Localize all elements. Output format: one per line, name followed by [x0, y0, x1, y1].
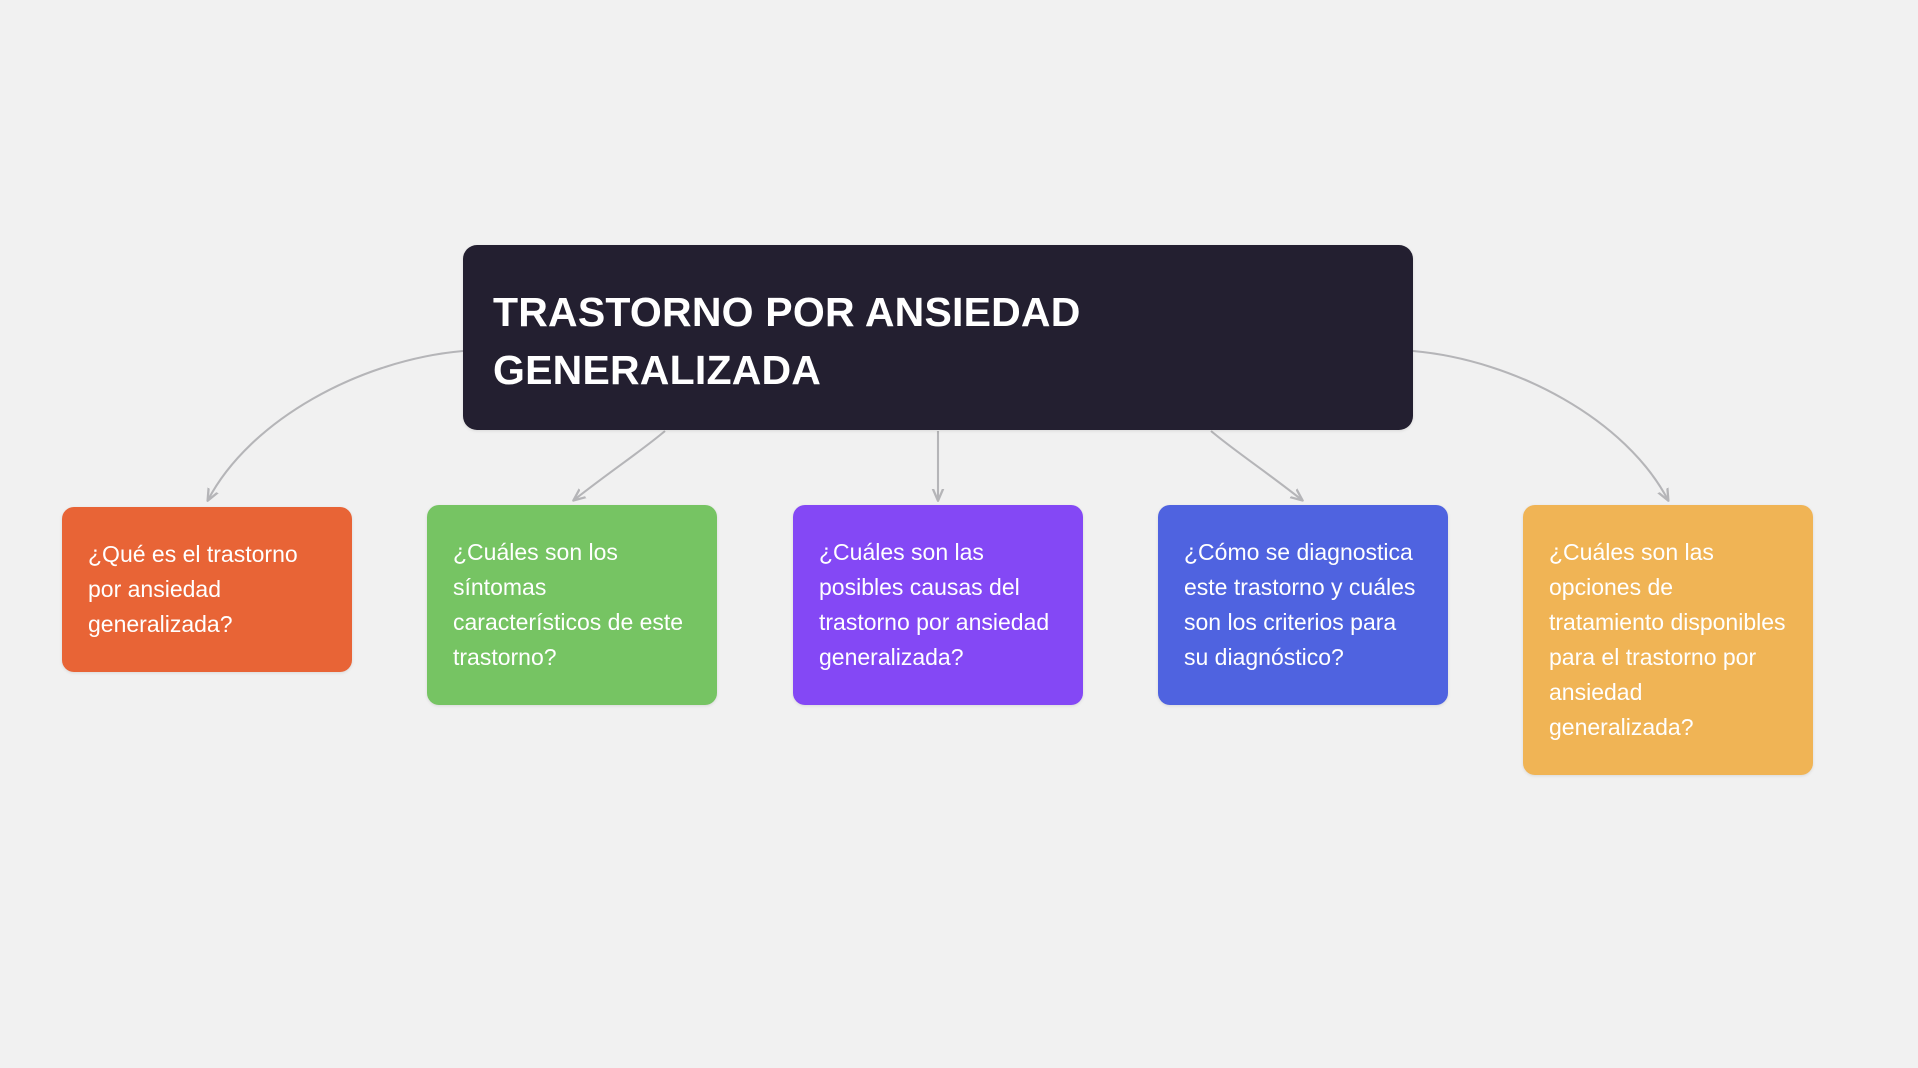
- child-label-diagnostico: ¿Cómo se diagnostica este trastorno y cu…: [1184, 535, 1422, 675]
- mindmap-canvas: TRASTORNO POR ANSIEDAD GENERALIZADA ¿Qué…: [0, 0, 1918, 1068]
- child-node-causas[interactable]: ¿Cuáles son las posibles causas del tras…: [793, 505, 1083, 705]
- child-label-causas: ¿Cuáles son las posibles causas del tras…: [819, 535, 1057, 675]
- root-node[interactable]: TRASTORNO POR ANSIEDAD GENERALIZADA: [463, 245, 1413, 430]
- child-node-que-es[interactable]: ¿Qué es el trastorno por ansiedad genera…: [62, 507, 352, 672]
- child-node-tratamiento[interactable]: ¿Cuáles son las opciones de tratamiento …: [1523, 505, 1813, 775]
- connector-to-diagnostico: [1211, 431, 1302, 500]
- child-label-sintomas: ¿Cuáles son los síntomas característicos…: [453, 535, 691, 675]
- child-label-que-es: ¿Qué es el trastorno por ansiedad genera…: [88, 537, 326, 642]
- connector-to-sintomas: [574, 431, 665, 500]
- child-node-diagnostico[interactable]: ¿Cómo se diagnostica este trastorno y cu…: [1158, 505, 1448, 705]
- connector-to-que-es: [208, 351, 463, 500]
- child-node-sintomas[interactable]: ¿Cuáles son los síntomas característicos…: [427, 505, 717, 705]
- child-label-tratamiento: ¿Cuáles son las opciones de tratamiento …: [1549, 535, 1787, 745]
- root-title: TRASTORNO POR ANSIEDAD GENERALIZADA: [493, 283, 1383, 399]
- connector-to-tratamiento: [1413, 351, 1668, 500]
